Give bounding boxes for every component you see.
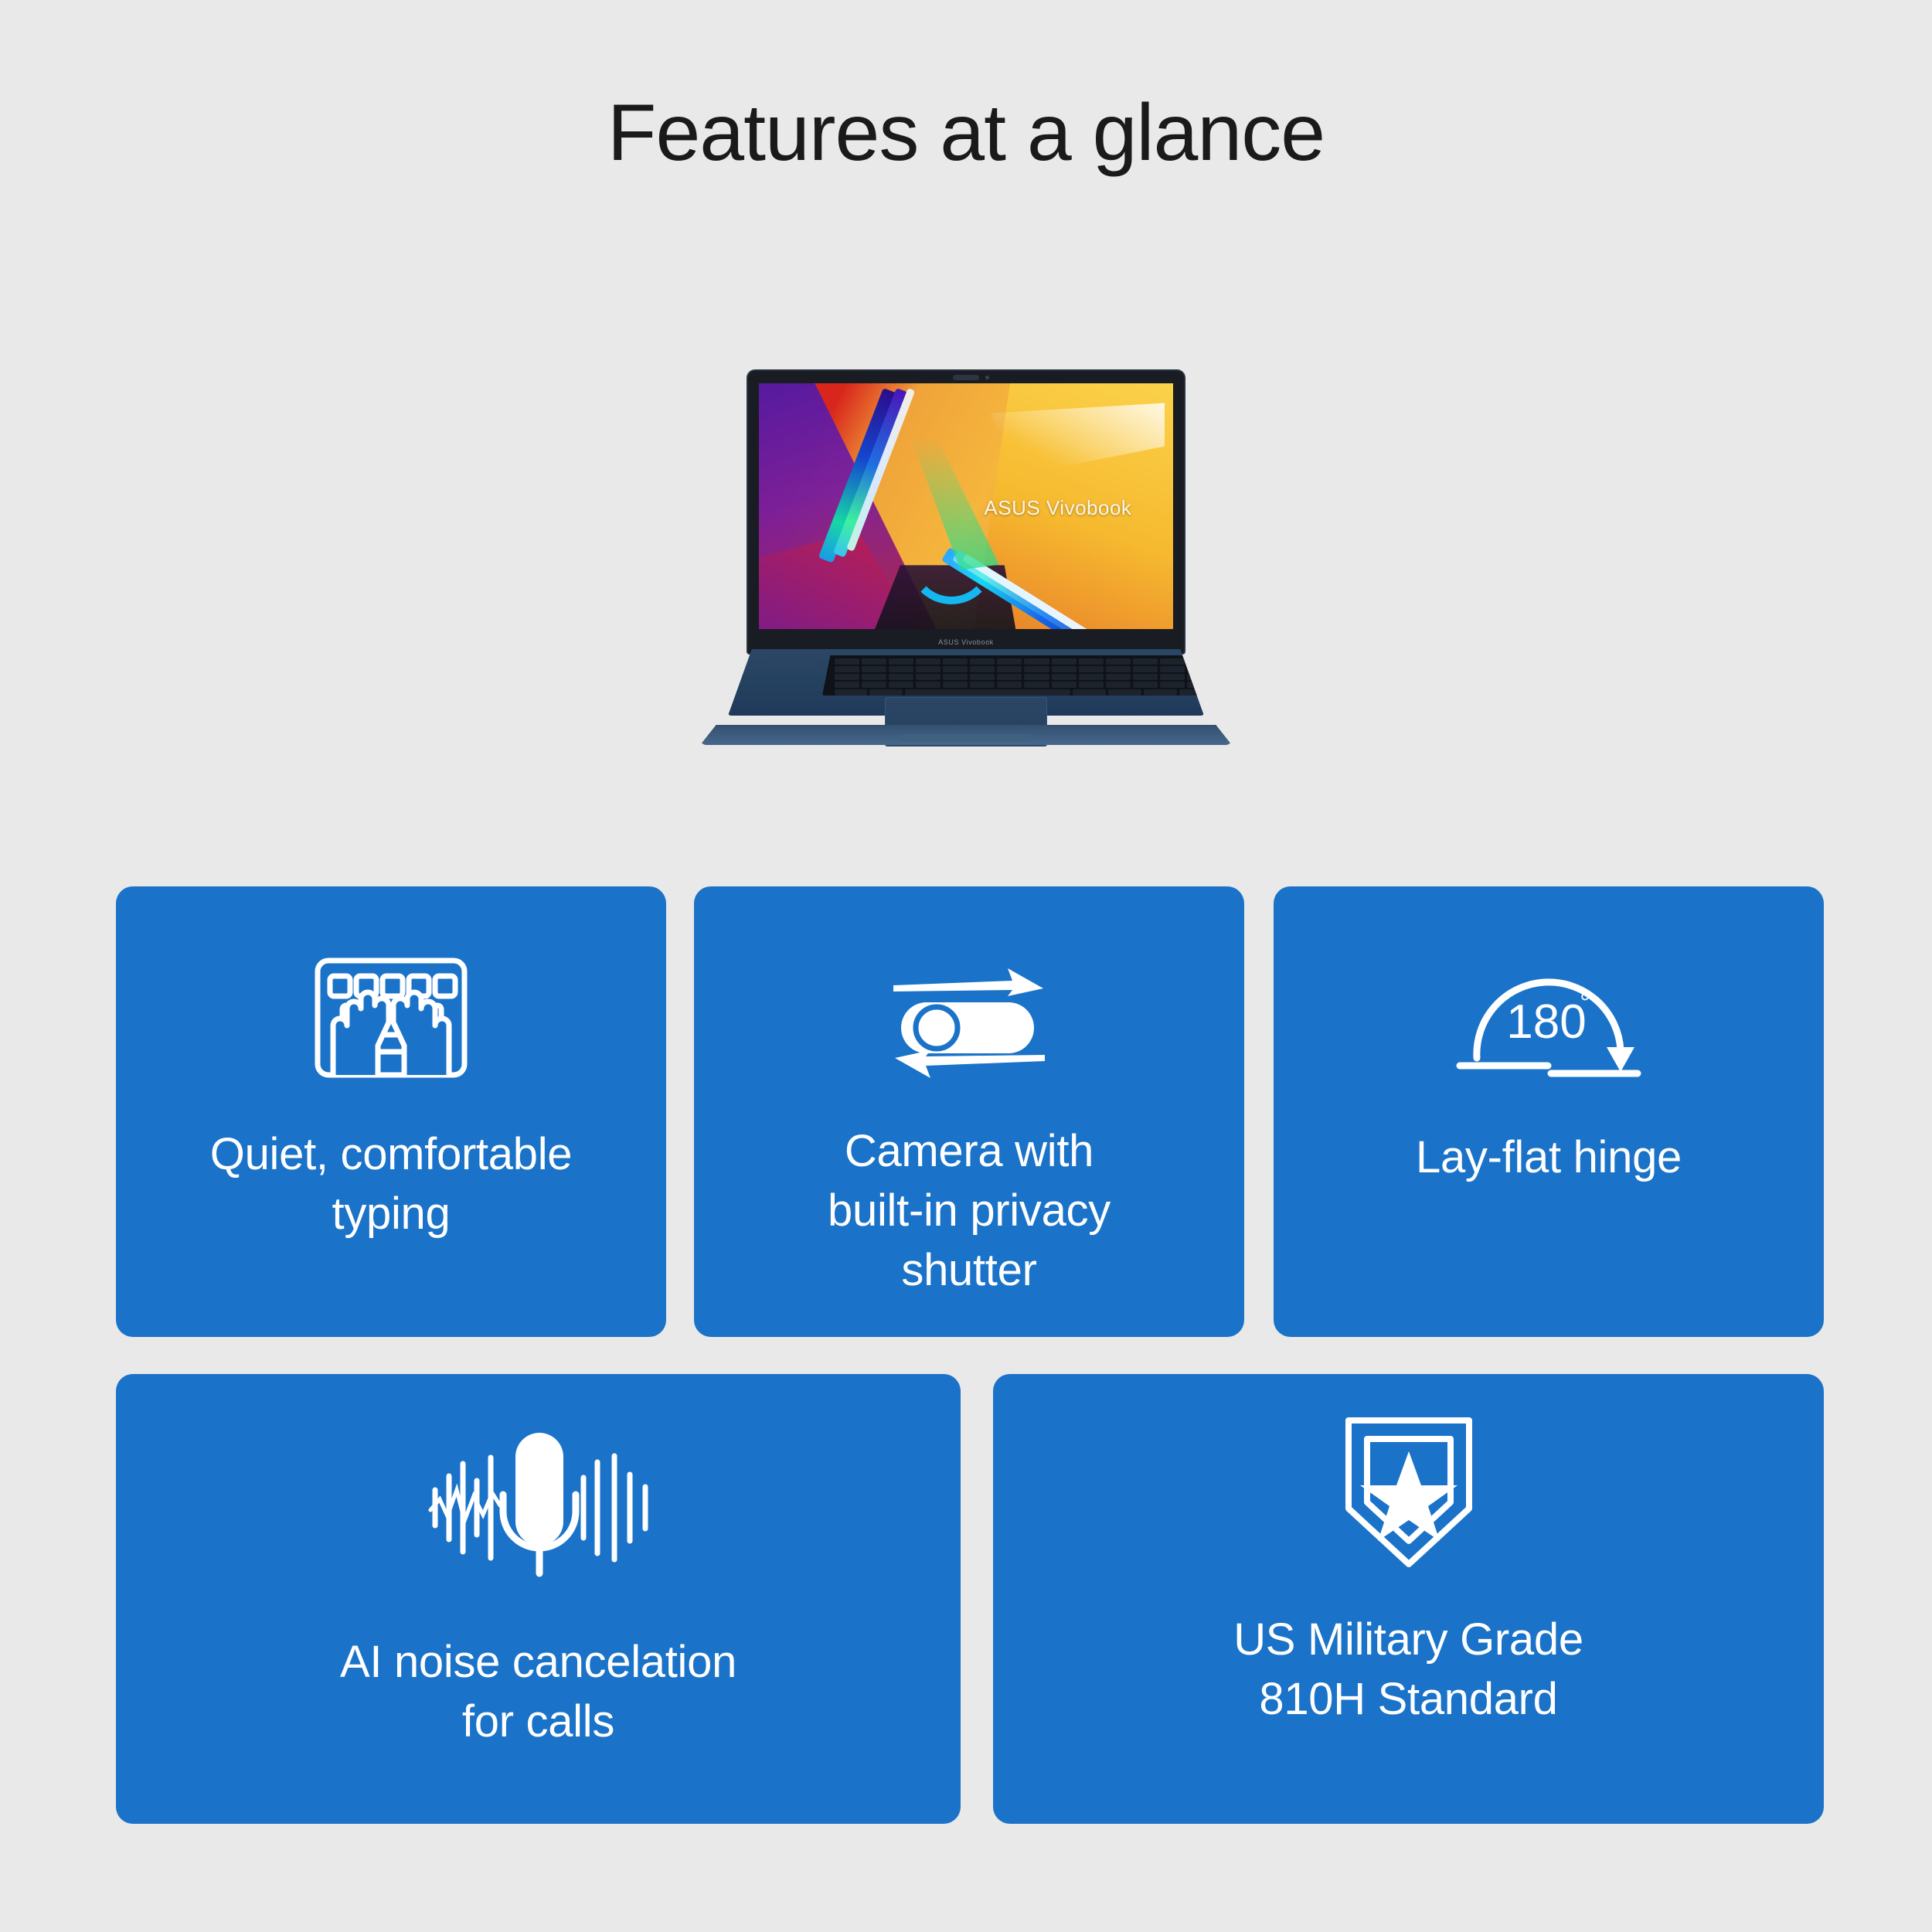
page-title: Features at a glance xyxy=(0,91,1932,175)
hero-product-image: ASUS Vivobook ASUS Vivobook xyxy=(671,371,1261,750)
feature-card-ai-noise-cancelation[interactable]: AI noise cancelation for calls xyxy=(116,1374,961,1824)
laptop-screen: ASUS Vivobook xyxy=(759,383,1173,629)
feature-card-quiet-typing[interactable]: Quiet, comfortable typing xyxy=(116,886,666,1337)
camera-privacy-shutter-icon xyxy=(876,957,1062,1081)
screen-wallpaper: ASUS Vivobook xyxy=(759,383,1173,629)
screen-brand-logo: ASUS Vivobook xyxy=(984,496,1131,520)
hinge-angle-value: 180 xyxy=(1506,995,1586,1049)
feature-card-label: US Military Grade 810H Standard xyxy=(1233,1610,1583,1729)
lay-flat-hinge-180-icon: 180 ° xyxy=(1452,964,1645,1080)
laptop-lid: ASUS Vivobook ASUS Vivobook xyxy=(748,371,1184,653)
degree-symbol: ° xyxy=(1580,988,1590,1018)
laptop-base xyxy=(671,649,1261,750)
feature-card-label: Camera with built-in privacy shutter xyxy=(828,1121,1111,1300)
feature-card-label: Lay-flat hinge xyxy=(1416,1128,1682,1187)
microphone-waveform-icon xyxy=(423,1419,655,1597)
feature-card-camera-shutter[interactable]: Camera with built-in privacy shutter xyxy=(694,886,1244,1337)
feature-card-us-military-grade[interactable]: US Military Grade 810H Standard xyxy=(993,1374,1824,1824)
keyboard xyxy=(822,655,1224,696)
feature-card-label: AI noise cancelation for calls xyxy=(340,1632,736,1751)
hands-on-keyboard-icon xyxy=(302,951,480,1083)
feature-card-lay-flat-hinge[interactable]: 180 ° Lay-flat hinge xyxy=(1274,886,1824,1337)
feature-card-label: Quiet, comfortable typing xyxy=(210,1124,572,1243)
shield-star-badge-icon xyxy=(1332,1410,1486,1576)
webcam-icon xyxy=(953,375,979,380)
